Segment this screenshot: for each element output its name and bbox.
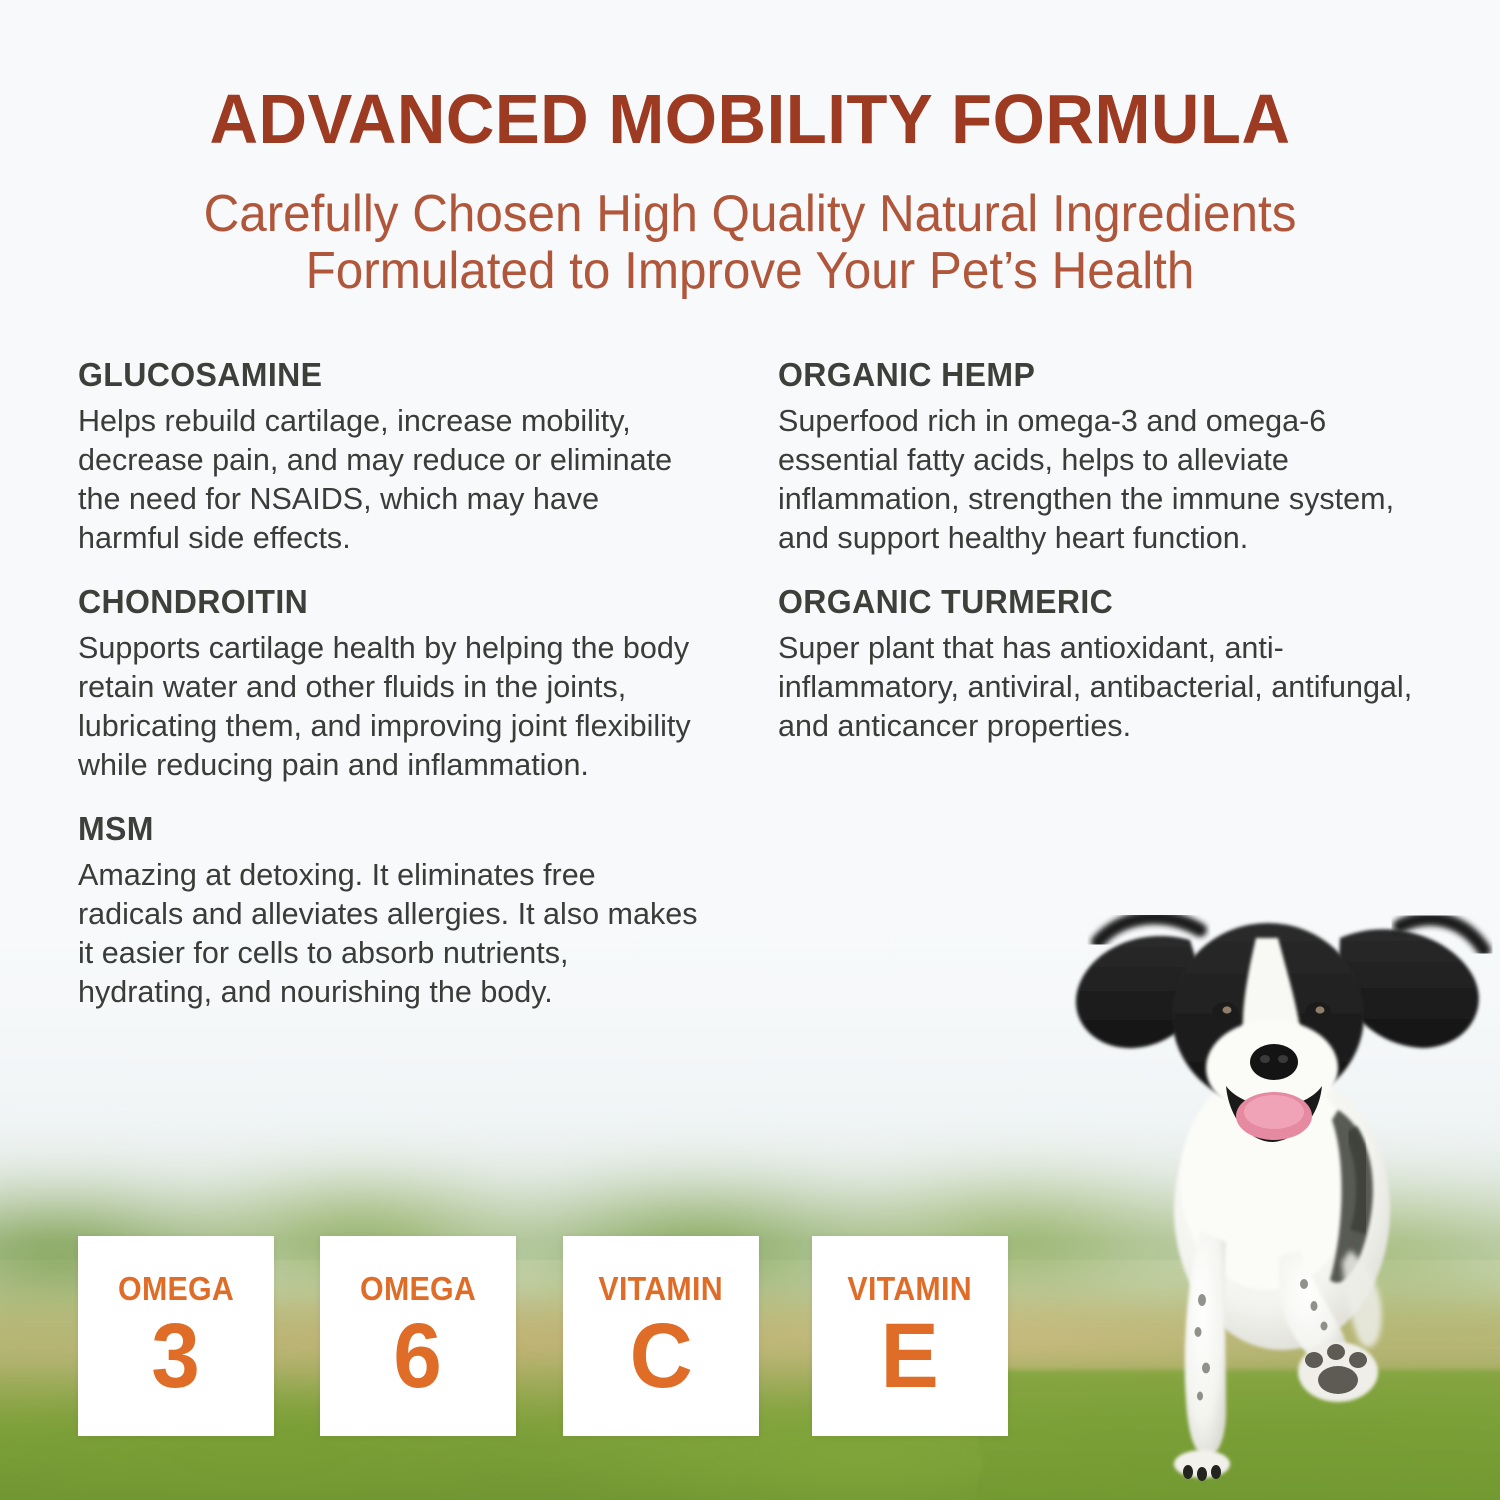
product-infographic: ADVANCED MOBILITY FORMULA Carefully Chos…: [0, 0, 1500, 1500]
ingredient-heading: GLUCOSAMINE: [78, 356, 699, 394]
subtitle-line-1: Carefully Chosen High Quality Natural In…: [85, 186, 1415, 243]
badge-label: VITAMIN: [848, 1270, 972, 1308]
badge-label: VITAMIN: [599, 1270, 723, 1308]
nutrient-badge-row: OMEGA 3 OMEGA 6 VITAMIN C VITAMIN E: [78, 1236, 1018, 1436]
ingredient-description: Superfood rich in omega-3 and omega-6 es…: [778, 401, 1428, 557]
running-puppy-photo: [1050, 880, 1500, 1500]
badge-label: OMEGA: [118, 1270, 234, 1308]
page-subtitle: Carefully Chosen High Quality Natural In…: [85, 186, 1415, 300]
page-title: ADVANCED MOBILITY FORMULA: [30, 82, 1470, 156]
ingredient-description: Amazing at detoxing. It eliminates free …: [78, 855, 708, 1011]
ingredient-heading: ORGANIC TURMERIC: [778, 583, 1418, 621]
nutrient-badge-vitamin-e: VITAMIN E: [812, 1236, 1008, 1436]
ingredient-organic-turmeric: ORGANIC TURMERIC Super plant that has an…: [778, 583, 1438, 745]
ingredient-description: Super plant that has antioxidant, anti-i…: [778, 628, 1428, 745]
ingredient-chondroitin: CHONDROITIN Supports cartilage health by…: [78, 583, 718, 784]
badge-value: 6: [394, 1310, 443, 1402]
ingredient-column-right: ORGANIC HEMP Superfood rich in omega-3 a…: [778, 356, 1438, 771]
ingredient-msm: MSM Amazing at detoxing. It eliminates f…: [78, 810, 718, 1011]
ingredient-description: Helps rebuild cartilage, increase mobili…: [78, 401, 708, 557]
badge-label: OMEGA: [360, 1270, 476, 1308]
badge-value: 3: [152, 1310, 201, 1402]
ingredient-glucosamine: GLUCOSAMINE Helps rebuild cartilage, inc…: [78, 356, 718, 557]
nutrient-badge-vitamin-c: VITAMIN C: [563, 1236, 759, 1436]
badge-value: C: [629, 1310, 692, 1402]
ingredient-heading: MSM: [78, 810, 699, 848]
subtitle-line-2: Formulated to Improve Your Pet’s Health: [85, 243, 1415, 300]
ingredient-organic-hemp: ORGANIC HEMP Superfood rich in omega-3 a…: [778, 356, 1438, 557]
ingredient-heading: CHONDROITIN: [78, 583, 699, 621]
nutrient-badge-omega-3: OMEGA 3: [78, 1236, 274, 1436]
nutrient-badge-omega-6: OMEGA 6: [320, 1236, 516, 1436]
ingredient-description: Supports cartilage health by helping the…: [78, 628, 708, 784]
badge-value: E: [881, 1310, 939, 1402]
ingredient-heading: ORGANIC HEMP: [778, 356, 1418, 394]
ingredient-column-left: GLUCOSAMINE Helps rebuild cartilage, inc…: [78, 356, 718, 1037]
